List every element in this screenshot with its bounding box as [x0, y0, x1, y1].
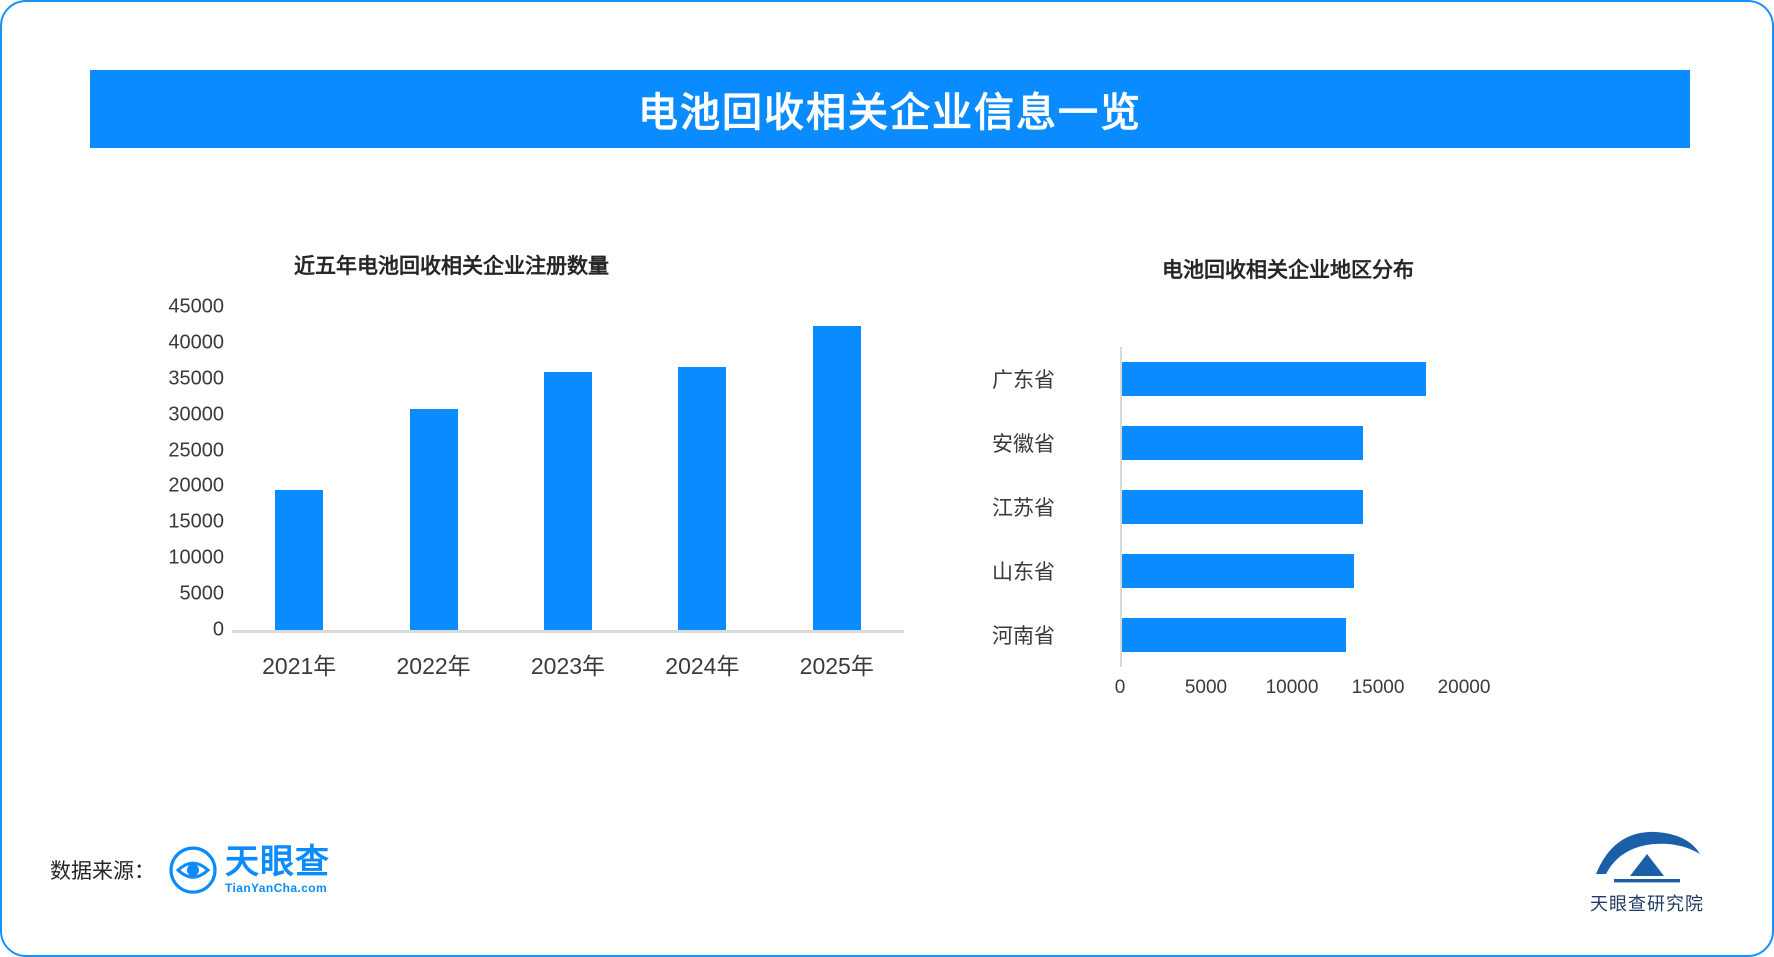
left-chart-x-axis: 2021年2022年2023年2024年2025年: [232, 647, 904, 681]
data-source-label: 数据来源：: [50, 855, 155, 885]
tianyancha-logo: 天眼查 TianYanCha.com: [169, 845, 330, 895]
page-title: 电池回收相关企业信息一览: [638, 80, 1142, 138]
header-banner: 电池回收相关企业信息一览: [90, 70, 1690, 148]
left-chart-bar: [410, 409, 458, 630]
right-chart-x-tick: 0: [1115, 677, 1126, 699]
right-chart-bar: [1122, 490, 1363, 524]
right-chart-category-label: 安徽省: [992, 428, 1110, 458]
left-chart-x-tick: 2021年: [232, 647, 366, 681]
right-chart-bar: [1122, 362, 1426, 396]
left-chart-y-tick: 0: [132, 619, 224, 642]
right-chart-bar: [1122, 426, 1363, 460]
left-chart-bar-slot: [501, 307, 635, 630]
left-chart-plot-area: [232, 307, 904, 633]
right-chart-bar: [1122, 618, 1346, 652]
left-chart-y-axis: 4500040000350003000025000200001500010000…: [132, 307, 224, 665]
tianyancha-domain: TianYanCha.com: [225, 881, 330, 895]
right-chart-category-label: 广东省: [992, 364, 1110, 394]
right-chart-category-label: 山东省: [992, 556, 1110, 586]
left-chart-x-tick: 2023年: [501, 647, 635, 681]
right-chart-x-tick: 5000: [1185, 677, 1227, 699]
registration-count-bar-chart: 4500040000350003000025000200001500010000…: [132, 307, 912, 707]
tianyancha-name: 天眼查: [225, 845, 330, 881]
left-chart-y-tick: 20000: [132, 475, 224, 498]
region-distribution-bar-chart: 广东省安徽省江苏省山东省河南省 05000100001500020000: [992, 347, 1512, 747]
left-chart-bar: [544, 372, 592, 630]
left-chart-y-tick: 45000: [132, 296, 224, 319]
right-chart-category-label: 河南省: [992, 620, 1110, 650]
right-chart-title: 电池回收相关企业地区分布: [1162, 254, 1414, 284]
left-chart-x-tick: 2022年: [366, 647, 500, 681]
left-chart-bar: [813, 326, 861, 630]
tianyancha-institute-icon: [1584, 824, 1710, 888]
left-chart-bar-slot: [366, 307, 500, 630]
left-chart-bar: [678, 367, 726, 630]
right-chart-plot-area: [1120, 347, 1466, 667]
infographic-page: 电池回收相关企业信息一览 近五年电池回收相关企业注册数量 45000400003…: [0, 0, 1774, 957]
institute-name: 天眼查研究院: [1590, 890, 1704, 916]
left-chart-title: 近五年电池回收相关企业注册数量: [294, 250, 609, 280]
left-chart-bar: [275, 490, 323, 630]
left-chart-x-tick: 2024年: [635, 647, 769, 681]
institute-logo: 天眼查研究院: [1584, 824, 1710, 916]
right-chart-category-label: 江苏省: [992, 492, 1110, 522]
left-chart-x-tick: 2025年: [770, 647, 904, 681]
left-chart-bar-slot: [635, 307, 769, 630]
left-chart-bar-slot: [770, 307, 904, 630]
left-chart-y-tick: 35000: [132, 367, 224, 390]
left-chart-y-tick: 40000: [132, 331, 224, 354]
data-source: 数据来源： 天眼查 TianYanCha.com: [50, 845, 330, 895]
left-chart-y-tick: 5000: [132, 583, 224, 606]
right-chart-bar: [1122, 554, 1354, 588]
left-chart-bar-slot: [232, 307, 366, 630]
left-chart-y-tick: 25000: [132, 439, 224, 462]
tianyancha-wordmark: 天眼查 TianYanCha.com: [225, 845, 330, 895]
right-chart-x-axis: 05000100001500020000: [1120, 669, 1466, 709]
right-chart-category-axis: 广东省安徽省江苏省山东省河南省: [992, 347, 1110, 667]
left-chart-y-tick: 10000: [132, 547, 224, 570]
right-chart-x-tick: 20000: [1438, 677, 1491, 699]
left-chart-y-tick: 15000: [132, 511, 224, 534]
left-chart-y-tick: 30000: [132, 403, 224, 426]
right-chart-x-tick: 10000: [1266, 677, 1319, 699]
right-chart-x-tick: 15000: [1352, 677, 1405, 699]
tianyancha-eye-icon: [169, 846, 217, 894]
